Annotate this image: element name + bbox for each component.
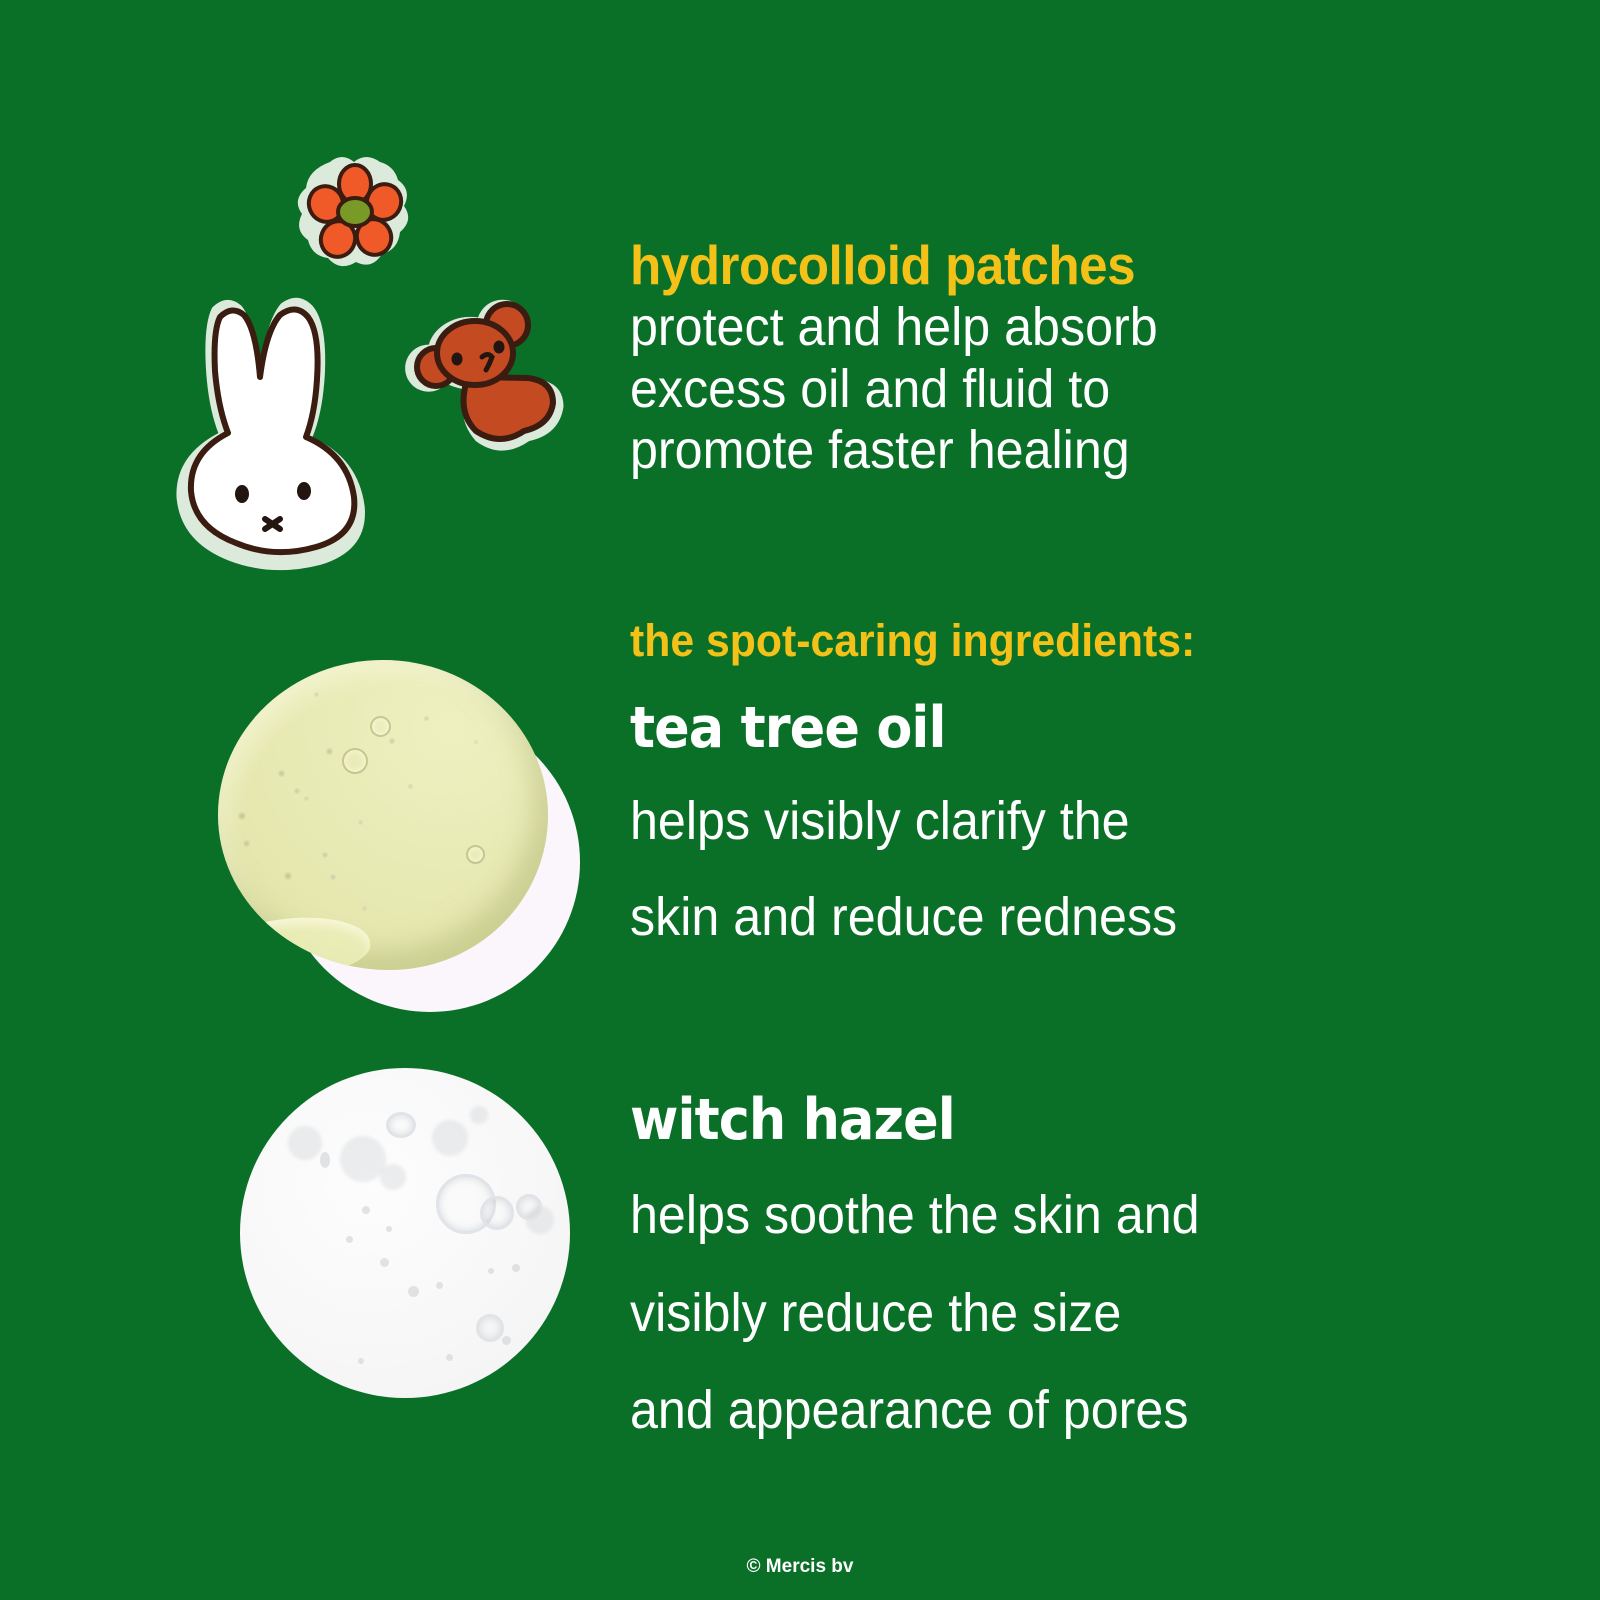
witch-hazel-body-line-1: helps soothe the skin and (630, 1185, 1200, 1247)
water-bubble (480, 1196, 514, 1230)
water-bubble (320, 1152, 330, 1168)
gel-bubble (342, 748, 368, 774)
hydrocolloid-body-line-2: excess oil and fluid to (630, 359, 1158, 421)
witch-hazel-body-line-2: visibly reduce the size (630, 1283, 1200, 1345)
gel-bubble (330, 874, 336, 880)
tea-tree-oil-name: tea tree oil (630, 700, 1171, 757)
gel-bubble (322, 852, 328, 858)
witch-hazel-name: witch hazel (630, 1092, 1193, 1149)
ingredients-label-block: the spot-caring ingredients: (630, 618, 1225, 663)
water-bubble (446, 1354, 453, 1361)
tea-tree-oil-swatch (218, 660, 588, 1010)
infographic-page: hydrocolloid patches protect and help ab… (0, 0, 1600, 1600)
tea-tree-gel-blob (218, 660, 548, 970)
gel-drip (218, 910, 373, 970)
witch-hazel-body-line-3: and appearance of pores (630, 1380, 1200, 1442)
water-bubble (346, 1236, 353, 1243)
gel-bubble (466, 845, 485, 864)
water-bubble (408, 1286, 419, 1297)
tea-tree-oil-body-line-2: skin and reduce redness (630, 887, 1177, 949)
hydrocolloid-body-line-3: promote faster healing (630, 420, 1158, 482)
gel-bubble (424, 716, 429, 721)
water-bubble (386, 1112, 416, 1138)
gel-bubble (304, 796, 309, 801)
water-bubble (380, 1164, 406, 1190)
gel-bubble (326, 748, 333, 755)
tea-tree-oil-body-line-1: helps visibly clarify the (630, 791, 1177, 853)
water-bubble (358, 1358, 364, 1364)
water-bubble (502, 1336, 511, 1345)
water-bubble (516, 1194, 542, 1220)
water-bubble (288, 1126, 322, 1160)
water-bubble (476, 1314, 504, 1342)
gel-bubble (389, 738, 395, 744)
gel-bubble (284, 872, 292, 880)
witch-hazel-disc (240, 1068, 570, 1398)
gel-bubble (362, 906, 367, 911)
water-bubble (436, 1282, 443, 1289)
copyright-notice: © Mercis bv (0, 1556, 1600, 1578)
water-bubble (488, 1268, 494, 1274)
hydrocolloid-heading: hydrocolloid patches (630, 238, 1158, 293)
gel-bubble (474, 740, 478, 744)
gel-bubble (314, 692, 319, 697)
gel-bubble (262, 682, 268, 688)
gel-bubble (238, 812, 246, 820)
witch-hazel-text-block: witch hazel helps soothe the skin and vi… (630, 1092, 1242, 1442)
teddy-bear-sticker-icon (410, 295, 595, 470)
ingredients-label: the spot-caring ingredients: (630, 618, 1195, 663)
sticker-cluster (170, 130, 610, 570)
water-bubble (432, 1120, 468, 1156)
gel-bubble (278, 770, 285, 777)
water-bubble (362, 1206, 370, 1214)
gel-bubble (370, 716, 391, 737)
hydrocolloid-body-line-1: protect and help absorb (630, 297, 1158, 359)
gel-bubble (294, 788, 300, 794)
witch-hazel-swatch (240, 1068, 570, 1398)
water-bubble (512, 1264, 520, 1272)
miffy-bunny-sticker-icon (170, 295, 375, 560)
water-bubble (380, 1258, 389, 1267)
gel-bubble (243, 840, 250, 847)
flower-sticker-icon (290, 150, 420, 280)
water-bubble (386, 1226, 392, 1232)
water-bubble (470, 1106, 488, 1124)
gel-bubble (358, 820, 363, 825)
gel-bubble (408, 784, 413, 789)
hydrocolloid-text-block: hydrocolloid patches protect and help ab… (630, 238, 1197, 482)
tea-tree-oil-text-block: tea tree oil helps visibly clarify the s… (630, 700, 1218, 948)
